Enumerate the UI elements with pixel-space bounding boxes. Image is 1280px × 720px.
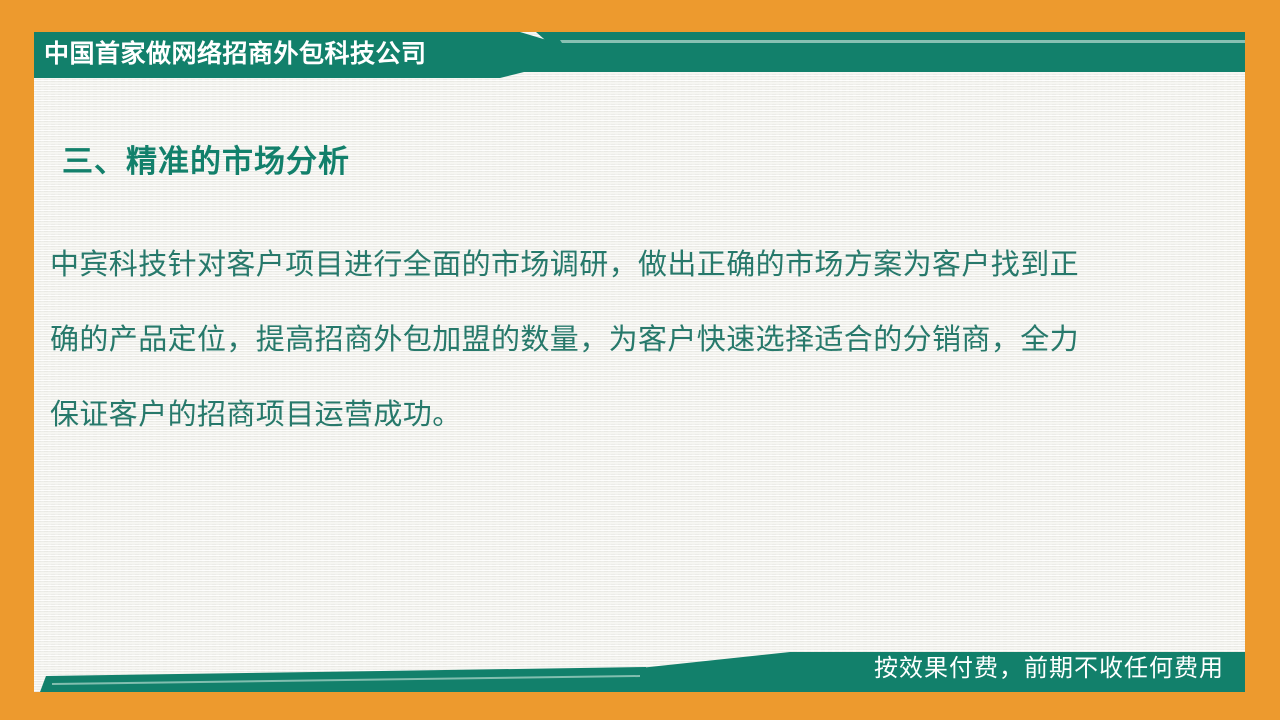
orange-frame-top — [0, 0, 1280, 32]
body-paragraph: 中宾科技针对客户项目进行全面的市场调研，做出正确的市场方案为客户找到正 确的产品… — [50, 228, 1185, 453]
slide-root: 中国首家做网络招商外包科技公司 三、精准的市场分析 中宾科技针对客户项目进行全面… — [0, 0, 1280, 720]
orange-frame-left — [0, 0, 34, 720]
body-line-3: 保证客户的招商项目运营成功。 — [50, 378, 1185, 453]
page-title: 三、精准的市场分析 — [62, 136, 350, 181]
orange-frame-bottom — [0, 692, 1280, 720]
body-line-1: 中宾科技针对客户项目进行全面的市场调研，做出正确的市场方案为客户找到正 — [50, 228, 1185, 303]
body-line-2: 确的产品定位，提高招商外包加盟的数量，为客户快速选择适合的分销商，全力 — [50, 303, 1185, 378]
orange-frame-right — [1245, 0, 1280, 720]
